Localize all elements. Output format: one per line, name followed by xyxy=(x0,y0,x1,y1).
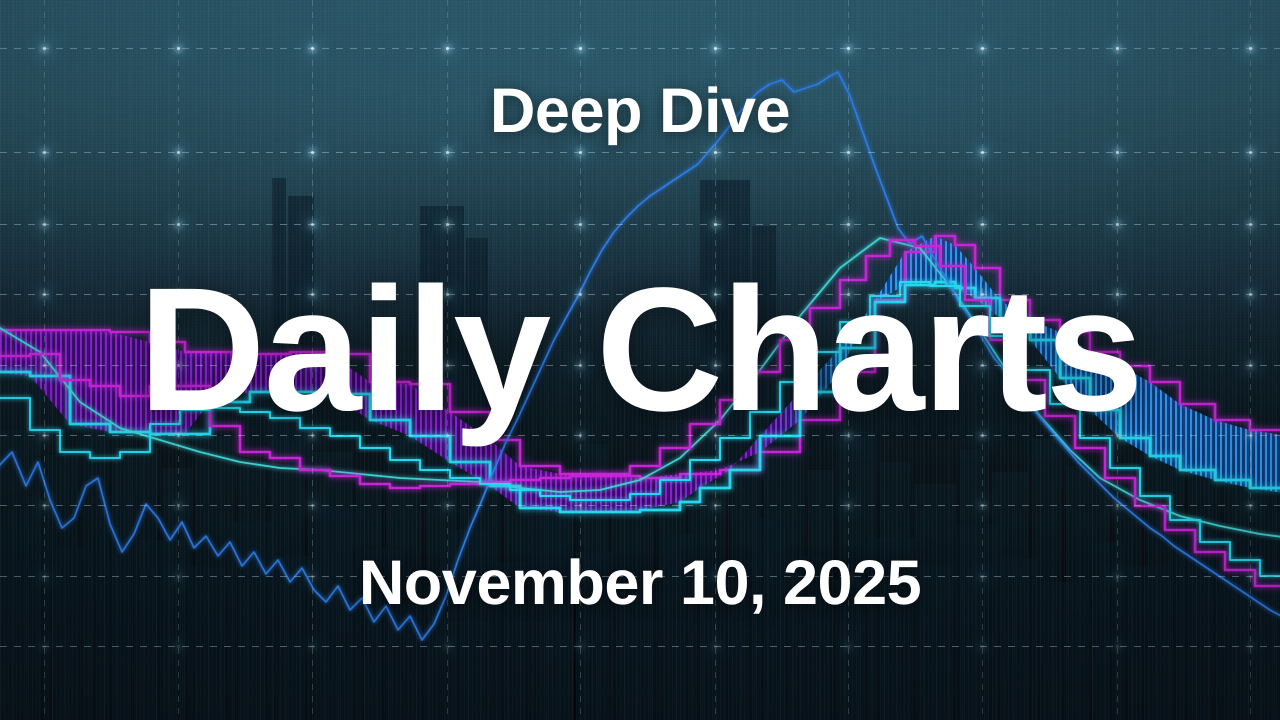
date-text: November 10, 2025 xyxy=(0,552,1280,615)
page-title: Daily Charts xyxy=(0,262,1280,438)
title-card: Deep Dive Daily Charts November 10, 2025 xyxy=(0,0,1280,720)
kicker-text: Deep Dive xyxy=(0,80,1280,143)
